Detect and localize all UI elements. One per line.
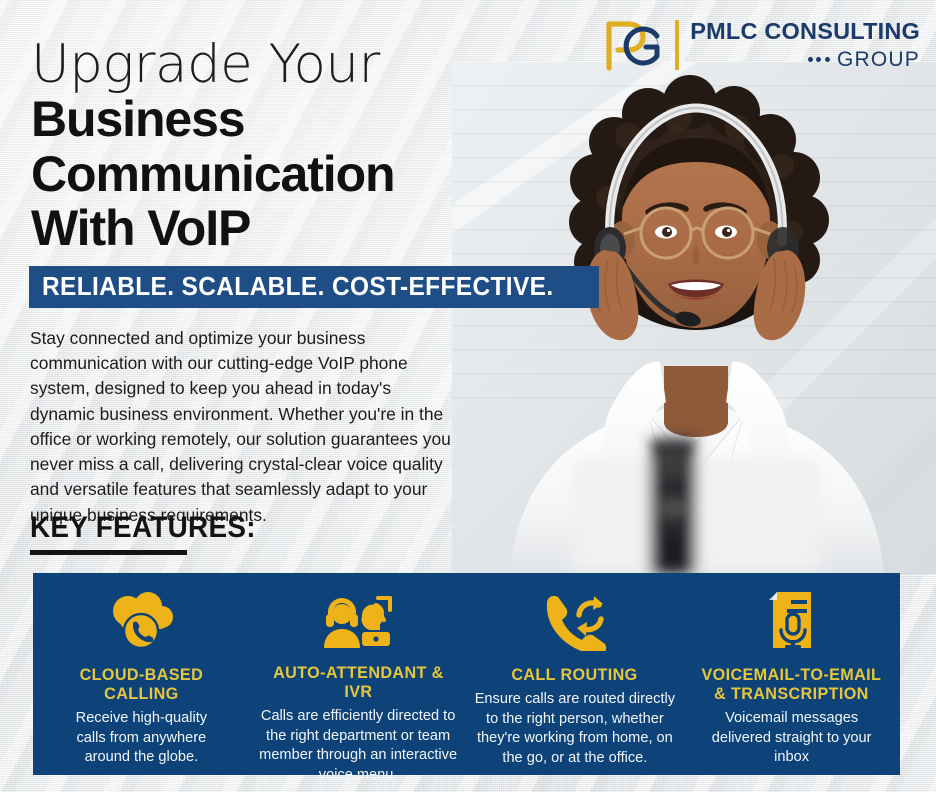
feature-title: VOICEMAIL-TO-EMAIL & TRANSCRIPTION xyxy=(696,665,887,703)
feature-title: CLOUD-BASED CALLING xyxy=(46,665,237,703)
logo-divider-rule xyxy=(675,20,679,70)
voicemail-transcription-icon xyxy=(763,590,821,652)
feature-card-voicemail-to-email[interactable]: VOICEMAIL-TO-EMAIL & TRANSCRIPTION Voice… xyxy=(683,573,900,775)
feature-card-cloud-based-calling[interactable]: CLOUD-BASED CALLING Receive high-quality… xyxy=(33,573,250,775)
feature-card-call-routing[interactable]: CALL ROUTING Ensure calls are routed dir… xyxy=(467,573,684,775)
brand-logo[interactable]: PMLC CONSULTING GROUP xyxy=(600,16,920,74)
headline-line-1: Upgrade Your xyxy=(31,38,394,92)
feature-card-auto-attendant-ivr[interactable]: AUTO-ATTENDANT & IVR Calls are efficient… xyxy=(250,573,467,775)
tagline-text: RELIABLE. SCALABLE. COST-EFFECTIVE. xyxy=(42,273,553,299)
tagline-banner: RELIABLE. SCALABLE. COST-EFFECTIVE. xyxy=(29,266,599,308)
logo-line-1: PMLC CONSULTING xyxy=(690,20,920,44)
key-features-label: KEY FEATURES: xyxy=(30,513,256,543)
key-features-heading: KEY FEATURES: xyxy=(30,513,273,555)
feature-body: Receive high-quality calls from anywhere… xyxy=(61,709,221,768)
voip-marketing-poster: PMLC CONSULTING GROUP Upgrade Your Busin… xyxy=(0,0,936,792)
logo-wordmark: PMLC CONSULTING GROUP xyxy=(690,20,920,70)
headset-agent-ivr-icon xyxy=(320,590,396,650)
logo-line-2: GROUP xyxy=(837,49,920,70)
pmlc-monogram-icon xyxy=(600,16,664,74)
hero-photo xyxy=(452,62,936,574)
features-panel: CLOUD-BASED CALLING Receive high-quality… xyxy=(33,573,900,775)
feature-body: Calls are efficiently directed to the ri… xyxy=(258,707,458,785)
headline-block: Upgrade Your Business Communication With… xyxy=(31,38,394,256)
headline-line-3: Communication xyxy=(31,147,394,202)
body-paragraph: Stay connected and optimize your busines… xyxy=(30,326,454,528)
phone-routing-icon xyxy=(539,590,611,652)
headline-line-2: Business xyxy=(31,92,394,147)
feature-title: CALL ROUTING xyxy=(512,665,638,684)
feature-body: Voicemail messages delivered straight to… xyxy=(699,709,885,768)
feature-body: Ensure calls are routed directly to the … xyxy=(475,690,676,768)
key-features-underline xyxy=(30,550,187,555)
headline-line-4: With VoIP xyxy=(31,201,394,256)
feature-title: AUTO-ATTENDANT & IVR xyxy=(263,663,454,701)
cloud-phone-icon xyxy=(104,590,178,652)
logo-dots-icon xyxy=(808,57,830,62)
